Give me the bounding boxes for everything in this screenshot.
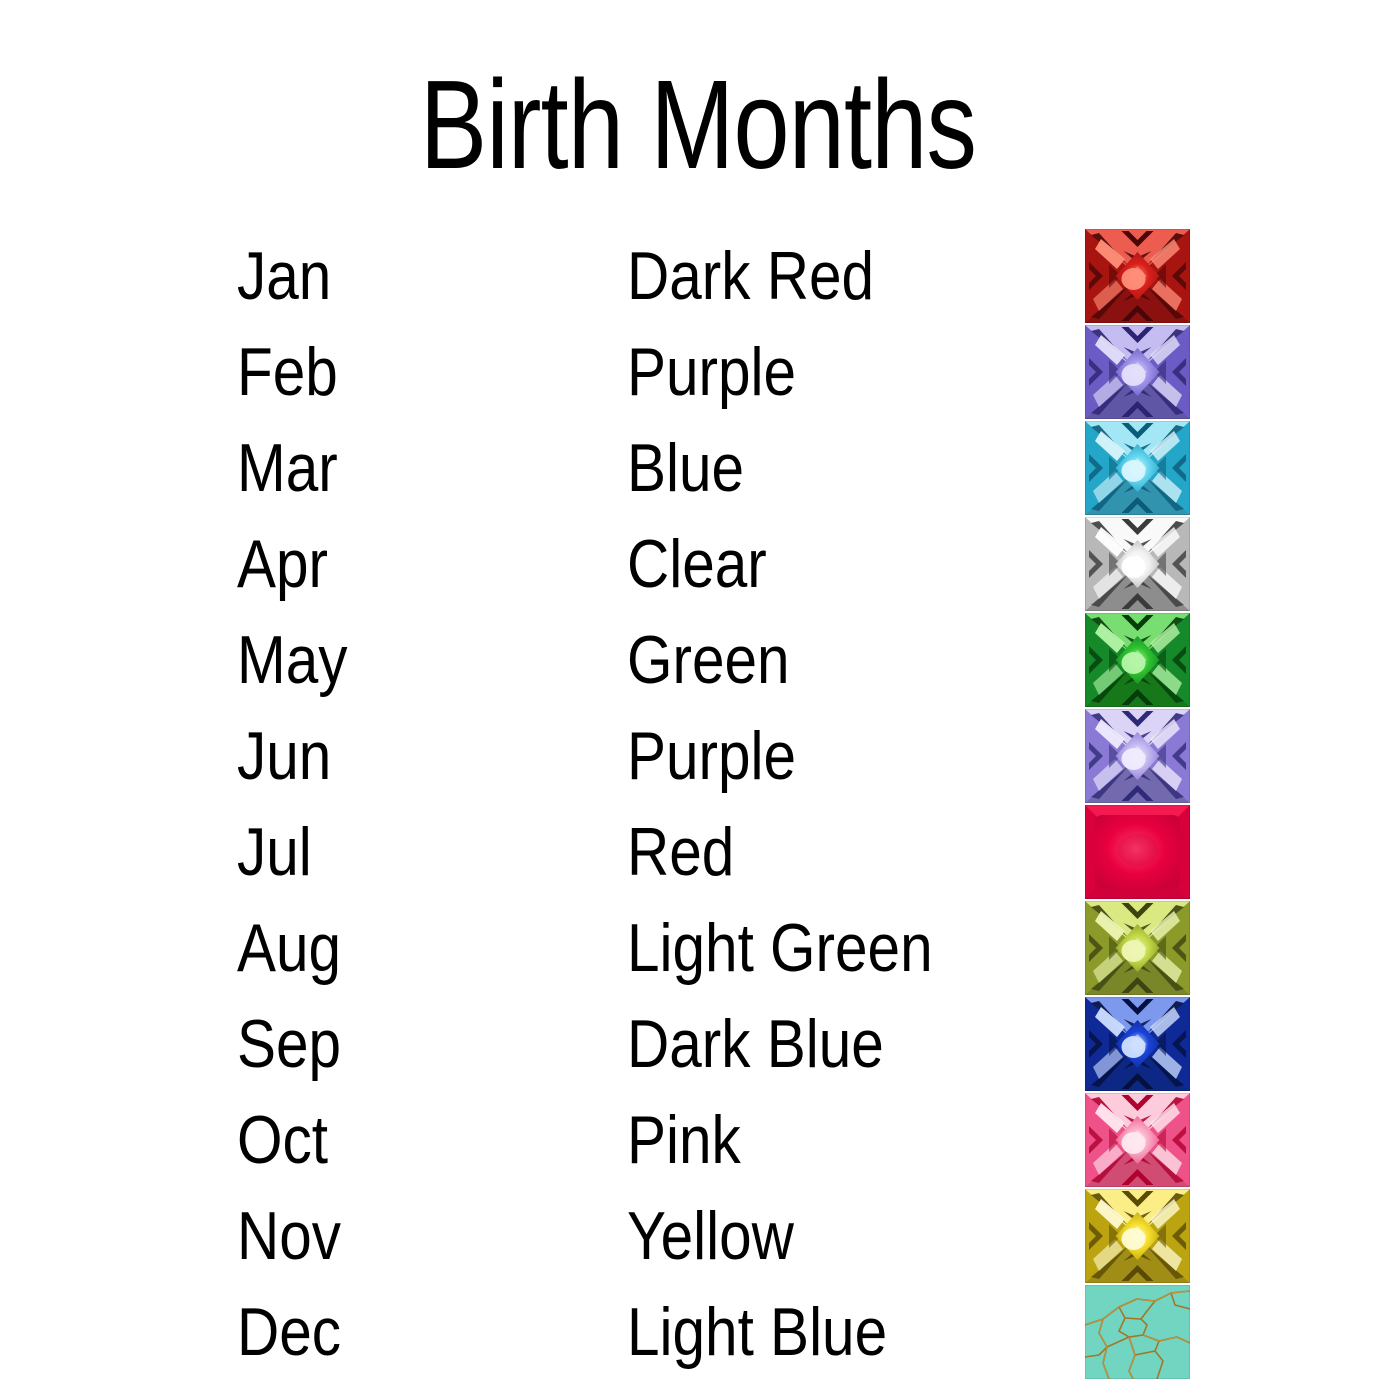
color-label: Pink bbox=[627, 1106, 741, 1174]
gemstone-swatch bbox=[1085, 901, 1190, 995]
table-row: JunPurple bbox=[0, 708, 1400, 804]
month-label: Feb bbox=[237, 338, 338, 406]
color-label: Blue bbox=[627, 434, 744, 502]
month-label: Dec bbox=[237, 1298, 341, 1366]
pink-tourmaline-gem bbox=[1085, 1093, 1190, 1187]
table-row: NovYellow bbox=[0, 1188, 1400, 1284]
table-row: MayGreen bbox=[0, 612, 1400, 708]
gemstone-swatch bbox=[1085, 517, 1190, 611]
month-label: Nov bbox=[237, 1202, 341, 1270]
color-label: Green bbox=[627, 626, 790, 694]
gemstone-swatch bbox=[1085, 805, 1190, 899]
page-title: Birth Months bbox=[138, 62, 1258, 188]
aquamarine-gem bbox=[1085, 421, 1190, 515]
alexandrite-gem bbox=[1085, 709, 1190, 803]
table-row: AugLight Green bbox=[0, 900, 1400, 996]
gemstone-swatch bbox=[1085, 997, 1190, 1091]
gemstone-swatch bbox=[1085, 709, 1190, 803]
garnet-gem bbox=[1085, 229, 1190, 323]
color-label: Dark Blue bbox=[627, 1010, 884, 1078]
color-label: Purple bbox=[627, 338, 796, 406]
month-label: Mar bbox=[237, 434, 338, 502]
gemstone-swatch bbox=[1085, 1189, 1190, 1283]
peridot-gem bbox=[1085, 901, 1190, 995]
table-row: MarBlue bbox=[0, 420, 1400, 516]
amethyst-gem bbox=[1085, 325, 1190, 419]
color-label: Red bbox=[627, 818, 734, 886]
table-row: JanDark Red bbox=[0, 228, 1400, 324]
month-label: Jan bbox=[237, 242, 331, 310]
birth-months-chart: Birth Months JanDark Red bbox=[0, 0, 1400, 1400]
color-label: Dark Red bbox=[627, 242, 874, 310]
ruby-gem bbox=[1085, 805, 1190, 899]
color-label: Clear bbox=[627, 530, 767, 598]
color-label: Light Blue bbox=[627, 1298, 887, 1366]
sapphire-gem bbox=[1085, 997, 1190, 1091]
diamond-gem bbox=[1085, 517, 1190, 611]
month-label: Jul bbox=[237, 818, 312, 886]
citrine-gem bbox=[1085, 1189, 1190, 1283]
emerald-gem bbox=[1085, 613, 1190, 707]
month-label: May bbox=[237, 626, 347, 694]
color-label: Light Green bbox=[627, 914, 933, 982]
table-row: SepDark Blue bbox=[0, 996, 1400, 1092]
table-row: JulRed bbox=[0, 804, 1400, 900]
gemstone-swatch bbox=[1085, 1093, 1190, 1187]
gemstone-swatch bbox=[1085, 229, 1190, 323]
table-row: FebPurple bbox=[0, 324, 1400, 420]
gemstone-swatch bbox=[1085, 421, 1190, 515]
table-row: DecLight Blue bbox=[0, 1284, 1400, 1380]
gemstone-swatch bbox=[1085, 1285, 1190, 1379]
month-label: Jun bbox=[237, 722, 331, 790]
turquoise-stone bbox=[1085, 1285, 1190, 1379]
table-row: OctPink bbox=[0, 1092, 1400, 1188]
month-label: Sep bbox=[237, 1010, 341, 1078]
month-label: Aug bbox=[237, 914, 341, 982]
gemstone-swatch bbox=[1085, 325, 1190, 419]
gemstone-swatch bbox=[1085, 613, 1190, 707]
birth-months-table: JanDark Red bbox=[0, 228, 1400, 1380]
table-row: AprClear bbox=[0, 516, 1400, 612]
month-label: Oct bbox=[237, 1106, 328, 1174]
color-label: Purple bbox=[627, 722, 796, 790]
month-label: Apr bbox=[237, 530, 328, 598]
color-label: Yellow bbox=[627, 1202, 794, 1270]
